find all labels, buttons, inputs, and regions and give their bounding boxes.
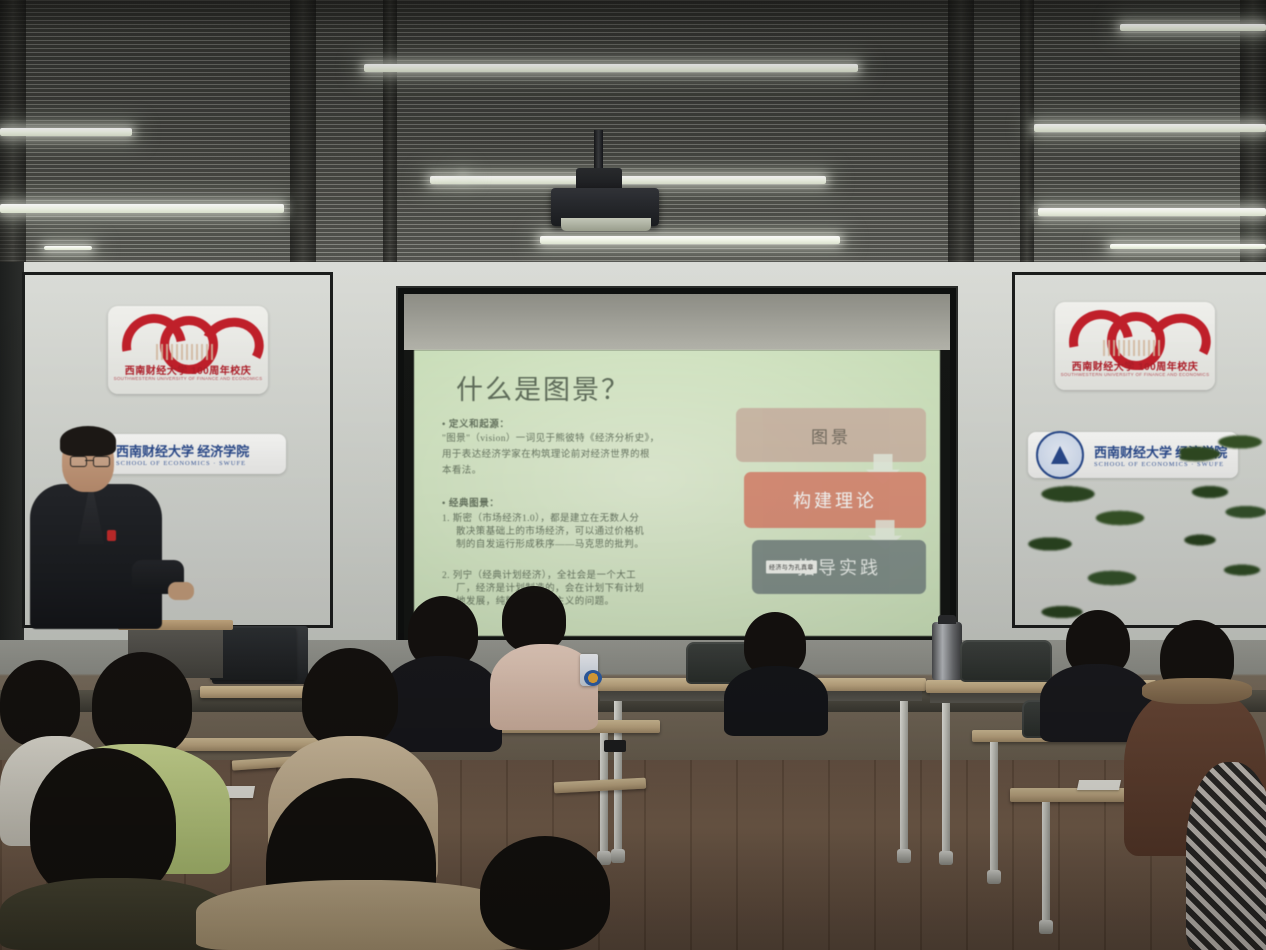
slide-flow-diagram: 图景 构建理论 指导实践 经济与为孔真章 [736,408,926,594]
table-leg [942,703,950,853]
slide-item-1-line-3: 制的自发运行形成秩序——马克思的批判。 [442,539,692,552]
lapel-pin [107,530,116,541]
audience-head [0,660,80,746]
thermos-flask [932,622,962,680]
table-leg [990,742,998,872]
slide-paragraph-3: 本看法。 [442,465,692,478]
slide-item-2-line-3: 地发展，纯粹理性建构主义的问题。 [442,596,692,609]
slide-bullet-1: • 定义和起源： [442,416,692,430]
projection-gray-band [404,294,950,350]
ceiling-light-tube [1034,124,1266,132]
ceiling-light-tube [540,236,840,244]
anniversary-label-cn: 西南财经大学 100周年校庆 [1055,358,1215,373]
ceiling-beam [383,0,397,268]
lens-right [93,456,110,467]
logo-building-icon [156,344,214,360]
audience-body [196,880,526,950]
diagram-box-vision: 图景 [736,408,926,462]
table-leg [1042,802,1050,922]
ceiling-beam [1240,0,1266,268]
table-caster [939,851,953,865]
spacer [442,481,692,495]
anniversary-label-en: SOUTHWESTERN UNIVERSITY OF FINANCE AND E… [108,376,268,381]
school-nameplate-left: 西南财经大学 经济学院 SCHOOL OF ECONOMICS · SWUFE [106,434,286,474]
presenter-hand [168,582,194,600]
ceiling-beam [290,0,316,268]
lens-left [70,456,87,467]
slide-item-1-line-1: 1. 斯密（市场经济1.0），都是建立在无数人分 [442,513,692,526]
slide-item-2-line-1: 2. 列宁（经典计划经济），全社会是一个大工 [442,570,692,583]
logo-building-icon [1103,340,1161,356]
audience-head [302,648,398,748]
presentation-slide: 什么是图景？ • 定义和起源： "图景"（vision）一词见于熊彼特《经济分析… [414,350,940,636]
glasses-bridge [85,460,93,461]
diagram-box-theory-label: 构建理论 [793,487,877,513]
ceiling-shadow-band [0,0,1266,34]
audience-body [724,666,828,736]
ceiling-light-tube [0,204,284,213]
paper-cup [580,654,598,686]
slide-body-text: • 定义和起源： "图景"（vision）一词见于熊彼特《经济分析史》， 用于表… [442,416,692,609]
diagram-box-practice: 指导实践 经济与为孔真章 [752,540,926,594]
glasses-icon [70,456,108,465]
slide-title: 什么是图景？ [456,368,630,407]
ceiling-beam [948,0,974,268]
audience-body-patterned [1186,762,1266,950]
slide-item-1-line-2: 散决策基础上的市场经济，可以通过价格机 [442,526,692,539]
table-caster [987,870,1001,884]
ceiling-light-tube [364,64,858,72]
table-leg [900,701,908,851]
diagram-box-vision-label: 图景 [811,423,851,448]
university-seal-icon [1036,431,1084,479]
table-caster [611,849,625,863]
ceiling-beam [1020,0,1034,268]
spacer [442,552,692,566]
audience-head [480,836,610,950]
slide-watermark: 经济与为孔真章 [766,561,817,574]
audience-head [502,586,566,652]
school-name-cn: 西南财经大学 经济学院 [116,441,249,460]
ceiling-light-tube [1038,208,1266,216]
table-caster [1039,920,1053,934]
ceiling-light-tube [0,128,132,136]
presenter-hair [60,426,116,456]
table-caster [897,849,911,863]
nameplate-text: 西南财经大学 经济学院 SCHOOL OF ECONOMICS · SWUFE [106,441,249,467]
slide-item-2-line-2: 厂，经济是计划制造的，会在计划下有计划 [442,583,692,596]
ceiling-light-tube [44,246,92,250]
slide-bullet-2: • 经典图景： [442,495,692,509]
ceiling-light-tube [1120,24,1266,31]
audience-body [380,656,502,752]
ceiling-light-tube [430,176,826,184]
ceiling-light-tube [1110,244,1266,249]
school-name-en: SCHOOL OF ECONOMICS · SWUFE [116,460,249,467]
projector-lens [561,218,651,231]
projection-screen: 什么是图景？ • 定义和起源： "图景"（vision）一词见于熊彼特《经济分析… [398,288,956,650]
anniversary-label-en: SOUTHWESTERN UNIVERSITY OF FINANCE AND E… [1055,372,1215,377]
anniversary-logo-left: 西南财经大学 100周年校庆 SOUTHWESTERN UNIVERSITY O… [108,306,268,394]
paper-sheet [1077,780,1121,790]
lecture-hall-photo: 西南财经大学 100周年校庆 SOUTHWESTERN UNIVERSITY O… [0,0,1266,950]
diagram-box-theory: 构建理论 [744,472,926,528]
slide-paragraph-1: "图景"（vision）一词见于熊彼特《经济分析史》， [442,433,692,446]
coat-fur-collar [1142,678,1252,704]
audience-head [92,652,192,756]
slide-paragraph-2: 用于表达经济学家在构筑理论前对经济世界的根 [442,449,692,462]
anniversary-logo-right: 西南财经大学 100周年校庆 SOUTHWESTERN UNIVERSITY O… [1055,302,1215,390]
anniversary-label-cn: 西南财经大学 100周年校庆 [108,362,268,377]
plant-fronds [1180,420,1266,620]
desk-object [604,740,626,752]
chair-back [960,640,1052,682]
